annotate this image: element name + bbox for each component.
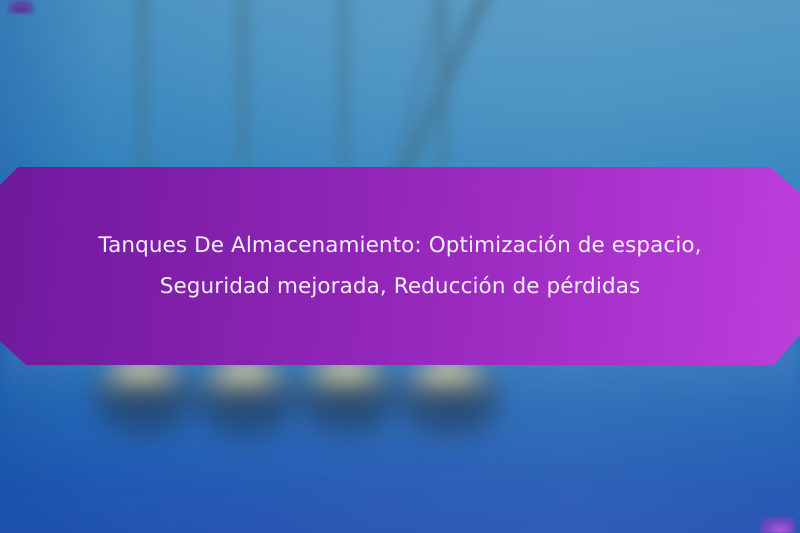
cradle-sphere-shadow [96, 378, 192, 430]
cradle-sphere-shadow [402, 380, 498, 432]
corner-artifact-top-left [8, 0, 34, 13]
cradle-sphere-shadow [300, 378, 396, 430]
corner-artifact-bottom-right [760, 517, 794, 533]
cradle-spheres-group [0, 352, 800, 462]
hero-image: Tanques De Almacenamiento: Optimización … [0, 0, 800, 533]
cradle-sphere-shadow [198, 380, 294, 432]
banner-title-text: Tanques De Almacenamiento: Optimización … [80, 225, 720, 307]
title-banner: Tanques De Almacenamiento: Optimización … [0, 167, 800, 365]
